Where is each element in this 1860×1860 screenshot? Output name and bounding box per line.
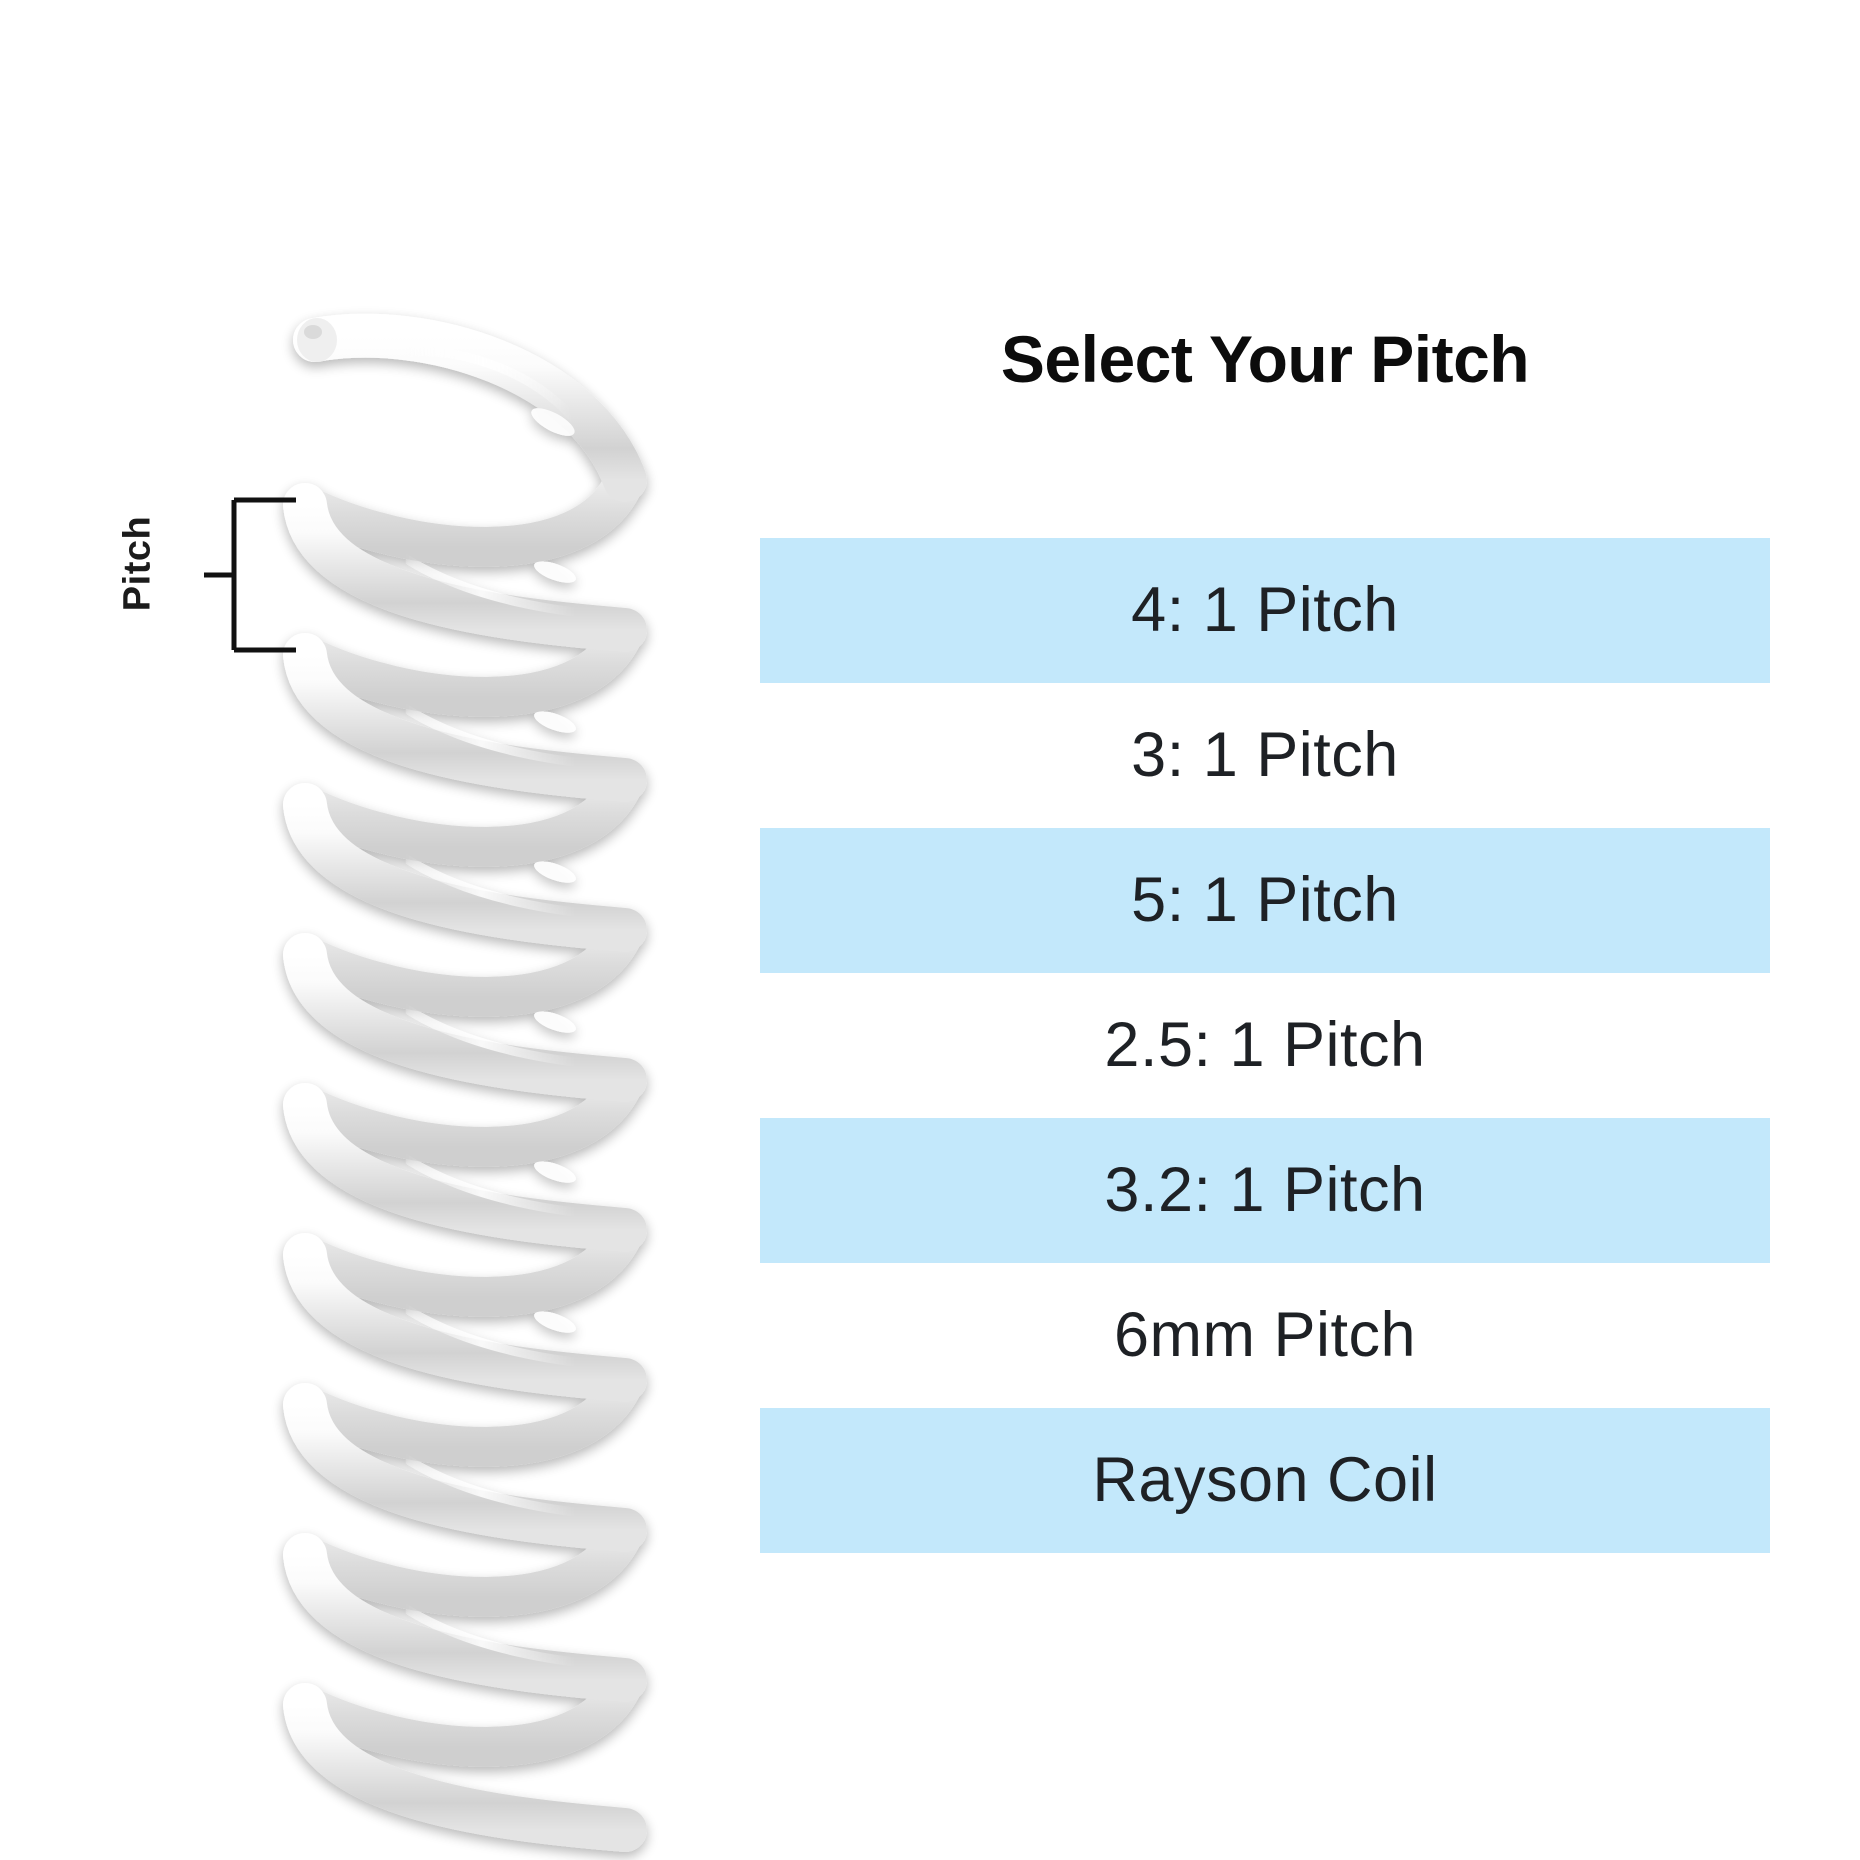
pitch-option-row[interactable]: 2.5: 1 Pitch <box>760 973 1770 1118</box>
pitch-option-row[interactable]: 6mm Pitch <box>760 1263 1770 1408</box>
product-option-graphic: Pitch Select Your Pitch 4: 1 Pitch 3: 1 … <box>0 0 1860 1860</box>
pitch-option-label: 3: 1 Pitch <box>1131 724 1399 787</box>
pitch-option-label: 3.2: 1 Pitch <box>1104 1159 1425 1222</box>
pitch-bracket-icon <box>178 480 298 670</box>
pitch-option-label: 6mm Pitch <box>1114 1304 1416 1367</box>
pitch-option-label: 4: 1 Pitch <box>1131 579 1399 642</box>
pitch-option-row[interactable]: 5: 1 Pitch <box>760 828 1770 973</box>
pitch-option-row[interactable]: Rayson Coil <box>760 1408 1770 1553</box>
pitch-option-row[interactable]: 3: 1 Pitch <box>760 683 1770 828</box>
pitch-selector-panel: Select Your Pitch 4: 1 Pitch 3: 1 Pitch … <box>760 0 1860 1860</box>
panel-title: Select Your Pitch <box>760 326 1770 392</box>
coil-wire-tip <box>297 318 337 362</box>
pitch-dimension-annotation: Pitch <box>100 480 330 670</box>
pitch-option-label: 2.5: 1 Pitch <box>1104 1014 1425 1077</box>
pitch-option-list: 4: 1 Pitch 3: 1 Pitch 5: 1 Pitch 2.5: 1 … <box>760 538 1770 1553</box>
pitch-option-label: Rayson Coil <box>1092 1449 1437 1512</box>
pitch-option-label: 5: 1 Pitch <box>1131 869 1399 932</box>
pitch-dimension-label: Pitch <box>117 484 160 644</box>
pitch-option-row[interactable]: 3.2: 1 Pitch <box>760 1118 1770 1263</box>
pitch-option-row[interactable]: 4: 1 Pitch <box>760 538 1770 683</box>
coil-illustration-panel <box>0 0 760 1860</box>
